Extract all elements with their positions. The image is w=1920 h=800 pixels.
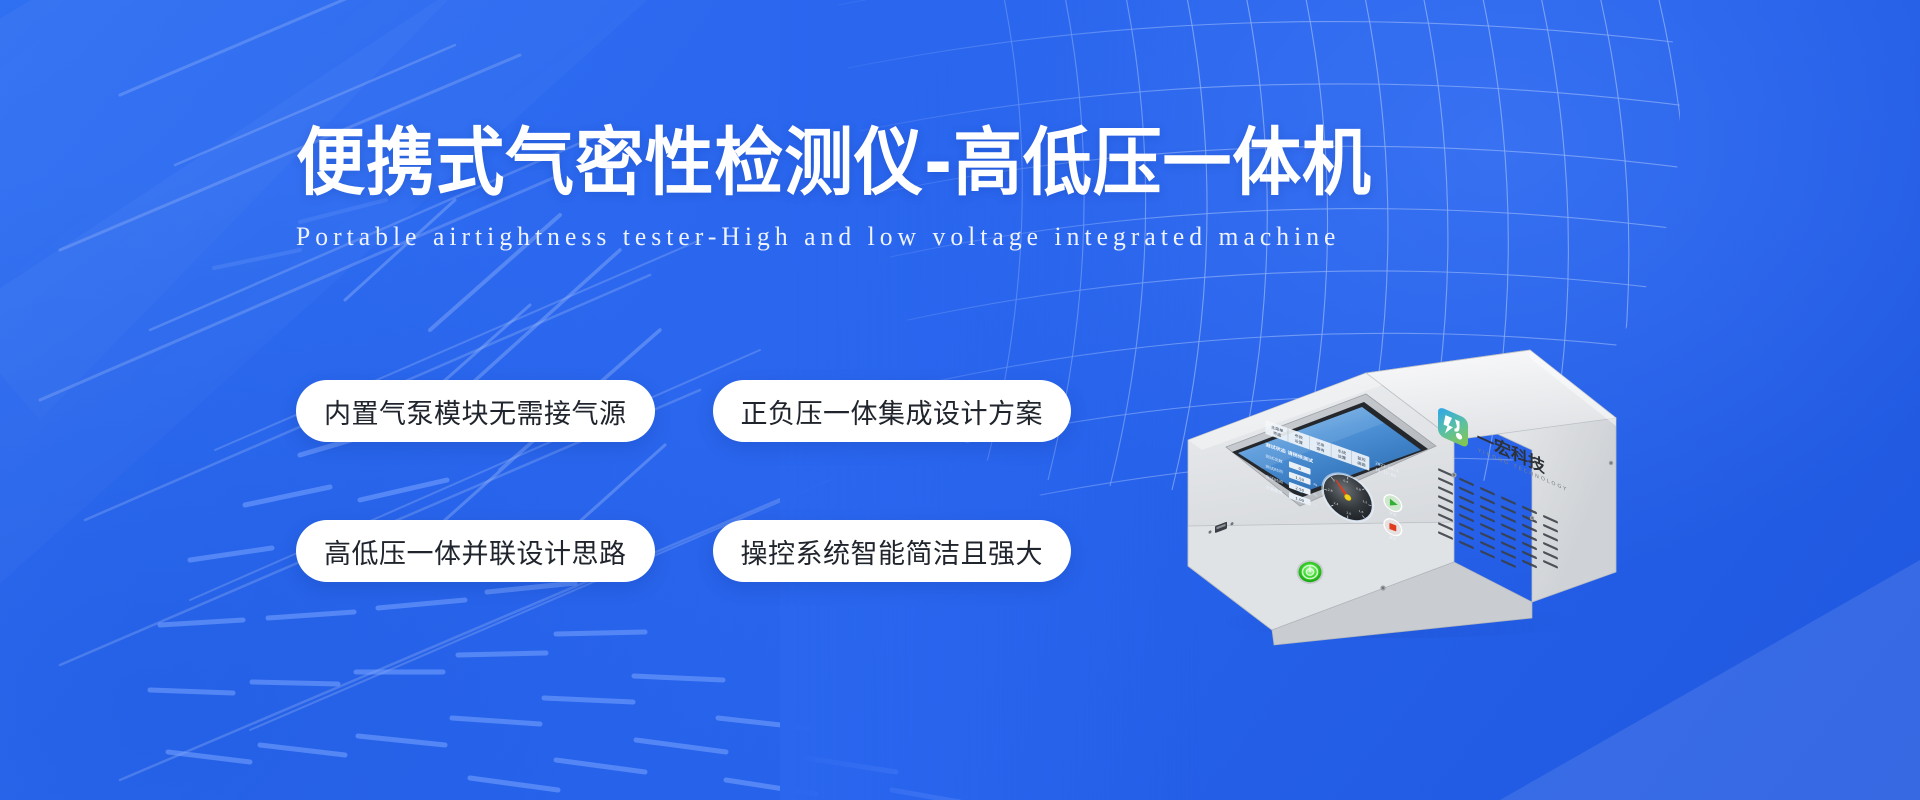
svg-text:0: 0 <box>1333 478 1335 482</box>
feature-pill-row: 内置气泵模块无需接气源 正负压一体集成设计方案 <box>296 380 1116 442</box>
feature-pill-label: 正负压一体集成设计方案 <box>741 392 1044 431</box>
feature-pill[interactable]: 内置气泵模块无需接气源 <box>296 380 655 442</box>
feature-pill-label: 操控系统智能简洁且强大 <box>741 532 1044 571</box>
feature-pill-list: 内置气泵模块无需接气源 正负压一体集成设计方案 高低压一体并联设计思路 操控系统… <box>296 380 1116 582</box>
feature-pill-label: 高低压一体并联设计思路 <box>324 532 627 571</box>
feature-pill-row: 高低压一体并联设计思路 操控系统智能简洁且强大 <box>296 520 1116 582</box>
banner-content: 便携式气密性检测仪-高低压一体机 Portable airtightness t… <box>0 0 1920 800</box>
headline-block: 便携式气密性检测仪-高低压一体机 Portable airtightness t… <box>296 126 1636 250</box>
feature-pill[interactable]: 操控系统智能简洁且强大 <box>713 520 1072 582</box>
feature-pill[interactable]: 高低压一体并联设计思路 <box>296 520 655 582</box>
page-subtitle: Portable airtightness tester-High and lo… <box>296 224 1616 250</box>
promo-banner: 便携式气密性检测仪-高低压一体机 Portable airtightness t… <box>0 0 1920 800</box>
feature-pill-label: 内置气泵模块无需接气源 <box>324 392 627 431</box>
feature-pill[interactable]: 正负压一体集成设计方案 <box>713 380 1072 442</box>
power-button[interactable] <box>1297 560 1324 584</box>
product-image: 主菜单界面 参数设置 记录查询 系统设置 监控画面 <box>1170 300 1630 660</box>
page-title: 便携式气密性检测仪-高低压一体机 <box>296 126 1542 200</box>
